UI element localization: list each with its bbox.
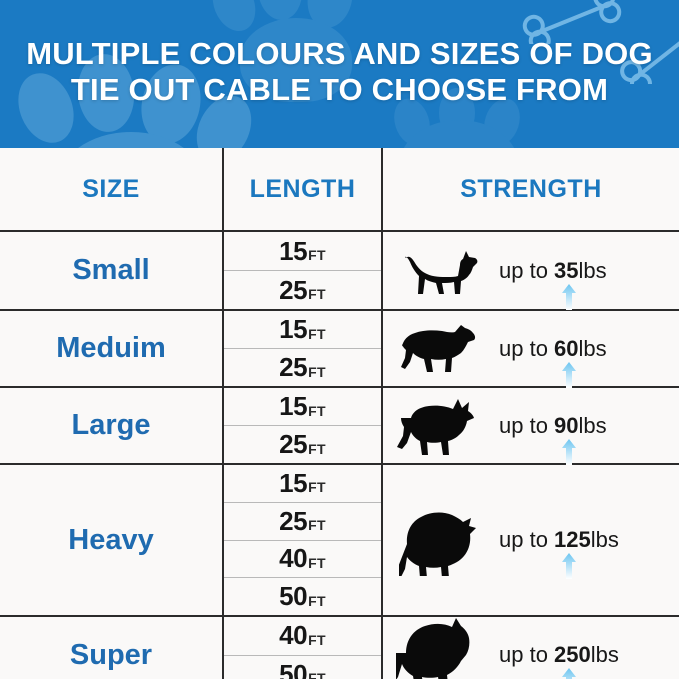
strength-text: up to 125lbs	[499, 527, 619, 553]
strength-text-wrap: up to 250lbs	[499, 642, 619, 668]
length-value: 15	[279, 468, 307, 499]
length-value: 40	[279, 620, 307, 651]
length-value: 15	[279, 236, 307, 267]
length-value: 25	[279, 352, 307, 383]
strength-cell: up to 60lbs	[383, 311, 679, 386]
length-unit: FT	[308, 632, 326, 648]
length-option: 15 FT	[224, 388, 381, 426]
length-unit: FT	[308, 479, 326, 495]
length-cell: 15 FT 25 FT 40 FT 50 FT	[224, 465, 383, 615]
length-cell: 40 FT 50 FT	[224, 617, 383, 679]
length-option: 15 FT	[224, 232, 381, 271]
up-arrow-icon	[561, 553, 577, 579]
length-unit: FT	[308, 441, 326, 457]
up-arrow-icon	[561, 362, 577, 388]
husky-silhouette-icon	[389, 396, 499, 456]
retriever-silhouette-icon	[389, 321, 499, 377]
size-label: Heavy	[68, 524, 153, 557]
length-option: 25 FT	[224, 271, 381, 309]
strength-text: up to 60lbs	[499, 336, 607, 362]
length-unit: FT	[308, 555, 326, 571]
large-setter-silhouette-icon	[389, 617, 499, 679]
size-cell: Small	[0, 232, 224, 309]
length-option: 25 FT	[224, 349, 381, 386]
length-option: 15 FT	[224, 311, 381, 349]
strength-text-wrap: up to 35lbs	[499, 258, 607, 284]
header-label-length: LENGTH	[250, 175, 356, 204]
header-cell-size: SIZE	[0, 148, 224, 230]
strength-cell: up to 250lbs	[383, 617, 679, 679]
strength-text: up to 250lbs	[499, 642, 619, 668]
length-unit: FT	[308, 517, 326, 533]
table-row: Meduim 15 FT 25 FT	[0, 311, 679, 388]
length-unit: FT	[308, 247, 326, 263]
length-option: 25 FT	[224, 426, 381, 463]
length-cell: 15 FT 25 FT	[224, 388, 383, 463]
strength-cell: up to 90lbs	[383, 388, 679, 463]
length-option: 15 FT	[224, 465, 381, 503]
length-value: 25	[279, 275, 307, 306]
up-arrow-icon	[561, 284, 577, 310]
strength-text-wrap: up to 60lbs	[499, 336, 607, 362]
size-cell: Large	[0, 388, 224, 463]
length-unit: FT	[308, 670, 326, 679]
length-unit: FT	[308, 364, 326, 380]
strength-cell: up to 125lbs	[383, 465, 679, 615]
strength-text-wrap: up to 125lbs	[499, 527, 619, 553]
table-header-row: SIZE LENGTH STRENGTH	[0, 148, 679, 232]
banner-title: MULTIPLE COLOURS AND SIZES OF DOG TIE OU…	[0, 36, 679, 108]
header-banner: MULTIPLE COLOURS AND SIZES OF DOG TIE OU…	[0, 0, 679, 148]
length-unit: FT	[308, 593, 326, 609]
length-value: 25	[279, 506, 307, 537]
length-value: 50	[279, 659, 307, 679]
small-terrier-silhouette-icon	[389, 243, 499, 299]
length-value: 15	[279, 314, 307, 345]
length-unit: FT	[308, 326, 326, 342]
size-label: Super	[70, 639, 152, 672]
size-cell: Heavy	[0, 465, 224, 615]
header-cell-strength: STRENGTH	[383, 148, 679, 230]
size-label: Large	[72, 409, 151, 442]
size-label: Meduim	[56, 332, 166, 365]
table-row: Super 40 FT 50 FT	[0, 617, 679, 679]
spec-table: SIZE LENGTH STRENGTH Small 15 FT 25 F	[0, 148, 679, 679]
length-value: 40	[279, 543, 307, 574]
strength-text-wrap: up to 90lbs	[499, 413, 607, 439]
table-row: Large 15 FT 25 FT	[0, 388, 679, 465]
size-cell: Super	[0, 617, 224, 679]
length-option: 50 FT	[224, 578, 381, 615]
header-label-size: SIZE	[82, 175, 140, 204]
size-cell: Meduim	[0, 311, 224, 386]
length-cell: 15 FT 25 FT	[224, 232, 383, 309]
mountain-dog-silhouette-icon	[389, 504, 499, 576]
strength-text: up to 90lbs	[499, 413, 607, 439]
table-row: Heavy 15 FT 25 FT 40 FT 50 FT	[0, 465, 679, 617]
up-arrow-icon	[561, 668, 577, 679]
length-value: 50	[279, 581, 307, 612]
strength-cell: up to 35lbs	[383, 232, 679, 309]
length-unit: FT	[308, 403, 326, 419]
strength-text: up to 35lbs	[499, 258, 607, 284]
table-row: Small 15 FT 25 FT	[0, 232, 679, 311]
length-value: 15	[279, 391, 307, 422]
infographic-sheet: MULTIPLE COLOURS AND SIZES OF DOG TIE OU…	[0, 0, 679, 679]
header-cell-length: LENGTH	[224, 148, 383, 230]
length-cell: 15 FT 25 FT	[224, 311, 383, 386]
length-option: 25 FT	[224, 503, 381, 541]
size-label: Small	[72, 254, 149, 287]
up-arrow-icon	[561, 439, 577, 465]
header-label-strength: STRENGTH	[460, 175, 602, 204]
length-value: 25	[279, 429, 307, 460]
length-option: 40 FT	[224, 617, 381, 656]
length-unit: FT	[308, 286, 326, 302]
length-option: 50 FT	[224, 656, 381, 679]
length-option: 40 FT	[224, 541, 381, 579]
